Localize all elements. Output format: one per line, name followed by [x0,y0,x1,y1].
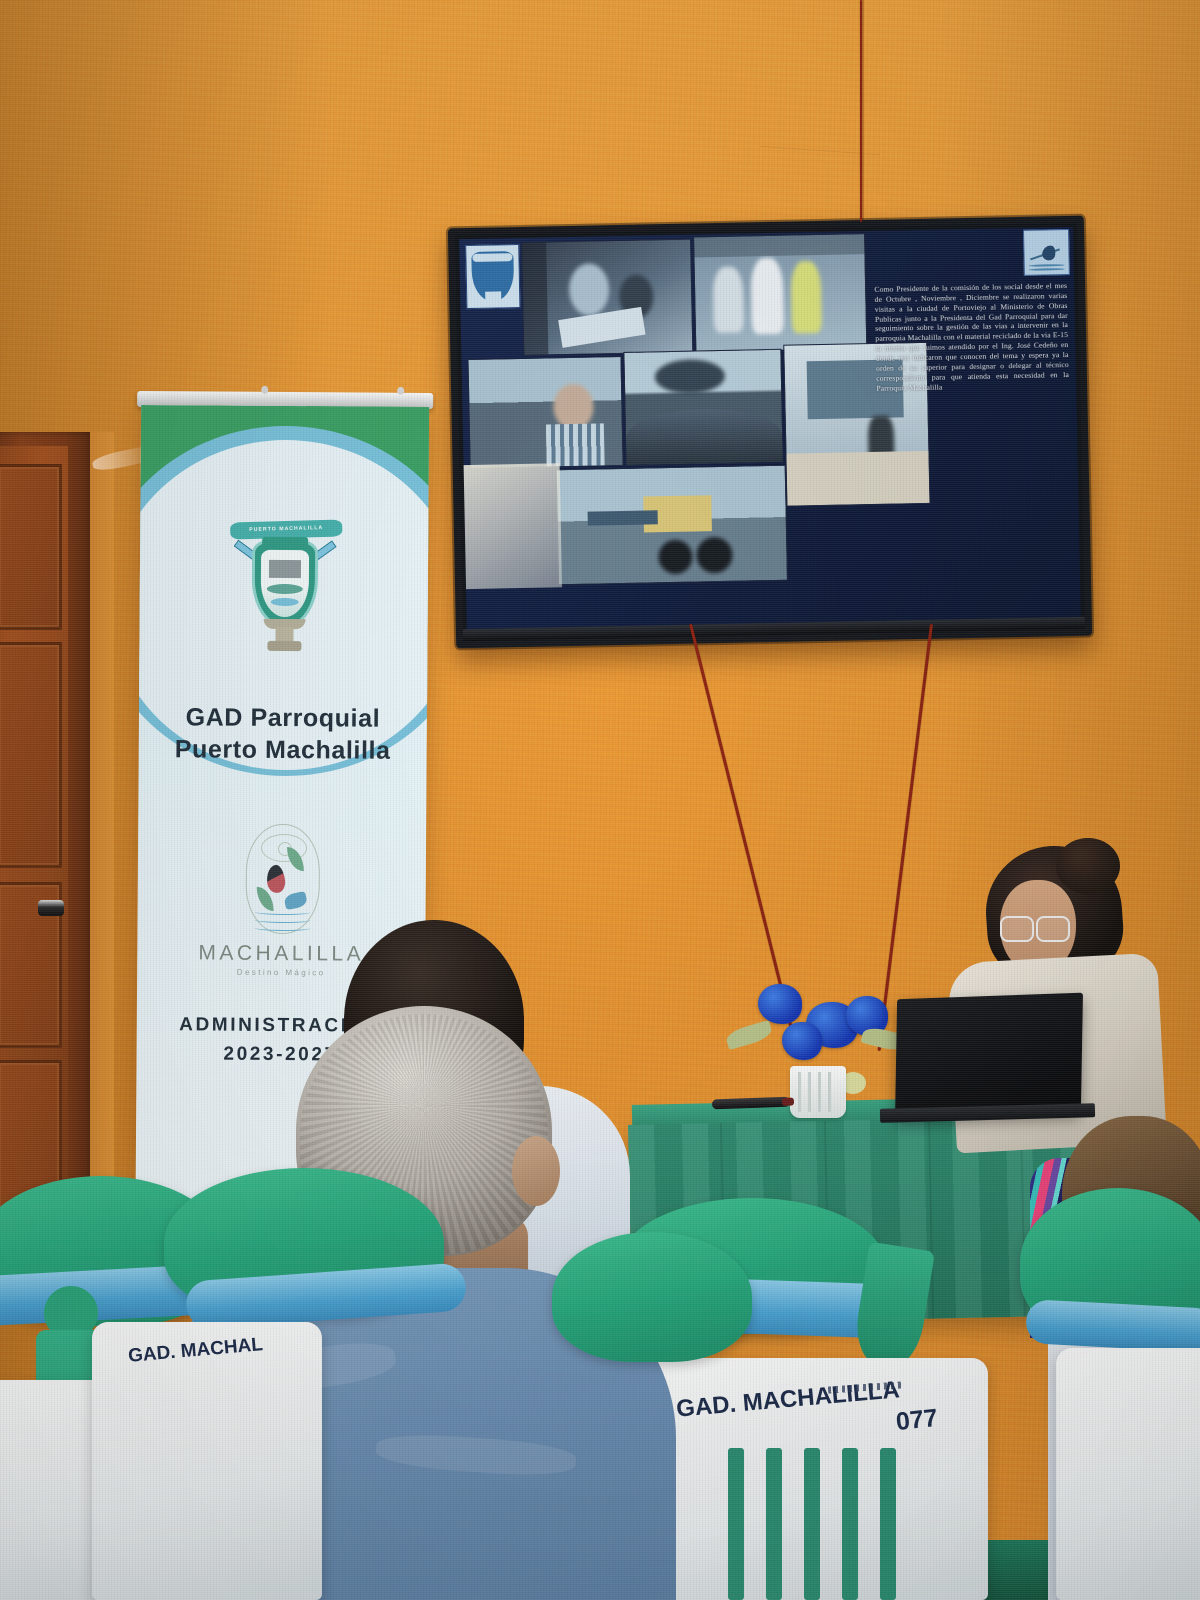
machalilla-bird-logo [1023,229,1070,276]
crest-shield-inner [261,550,309,617]
slide-photo-grid [459,231,875,629]
wall-television[interactable]: Como Presidente de la comisión de los so… [448,216,1092,649]
chair-number-077: 077 [895,1404,940,1437]
photo-grupo-tres-personas [693,233,867,352]
door-panel-upper-mid [0,642,62,868]
wall-crack-upper [862,0,864,222]
photo-via-material [623,349,783,466]
municipal-crest: PUERTO MACHALILLA [235,521,334,652]
mach-fish-icon [283,891,308,910]
banner-title-line1: GAD Parroquial [139,701,427,735]
blue-rose-4 [782,1022,822,1060]
mach-wave-2 [255,917,311,923]
laptop-screen[interactable] [895,993,1083,1120]
eyeglasses-icon [1000,916,1070,938]
blue-rose-1 [758,984,802,1024]
crest-flag [262,537,308,547]
photo-hombre-via [467,356,623,469]
mach-wave-3 [254,925,310,931]
banner-title: GAD Parroquial Puerto Machalilla [139,701,427,767]
crest-foot [267,641,301,651]
wooden-door[interactable] [0,446,68,1218]
chair-sash-green-m1 [552,1232,752,1362]
staff-hair-bun [1056,838,1120,894]
photo-overlay-glare [464,463,562,589]
photo-reunion-oficina [521,239,693,356]
meeting-room-photo: Como Presidente de la comisión de los so… [0,0,1200,1600]
chair-back-l2 [92,1322,322,1600]
banner-title-line2: Puerto Machalilla [139,733,427,767]
white-vase [790,1066,846,1118]
door-handle-icon[interactable] [38,900,64,916]
man-ear [512,1136,560,1206]
crest-shield [255,543,316,625]
slide-text-panel: Como Presidente de la comisión de los so… [867,227,1080,621]
banner-hook-right [397,387,404,395]
chair-back-r1 [1056,1348,1200,1600]
slide-body-text: Como Presidente de la comisión de los so… [874,281,1069,393]
mach-bird-icon [265,864,287,894]
mach-wave-1 [255,909,311,915]
door-panel-top [0,464,62,630]
gad-crest-logo [465,244,520,309]
banner-hook-left [261,386,268,394]
power-cable-upper [860,0,862,222]
presentation-slide: Como Presidente de la comisión de los so… [459,227,1081,629]
machalilla-brand-icon [245,824,320,935]
photo-maquinaria-via [556,465,788,586]
